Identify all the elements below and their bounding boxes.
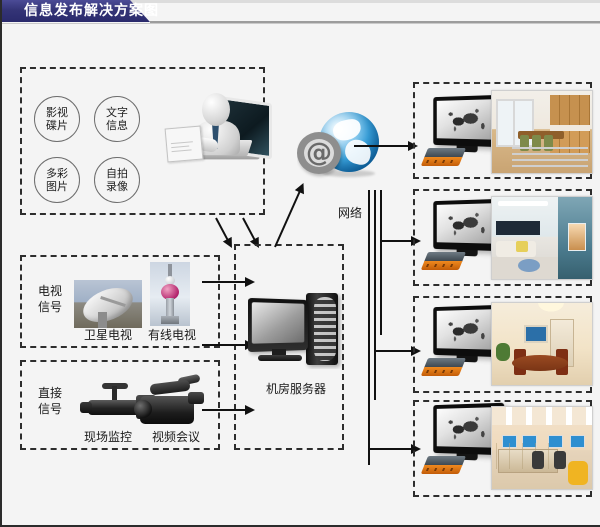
source-circle-image[interactable]: 多彩 图片 [34, 157, 80, 203]
source-circle-video-line2: 碟片 [46, 119, 68, 132]
source-circle-text-line1: 文字 [106, 106, 128, 119]
bus-line-middle [374, 190, 376, 400]
tv-signal-label-line1: 电视 [30, 283, 70, 299]
tv-signal-label-line2: 信号 [30, 299, 70, 315]
bus-line-inner [380, 190, 382, 335]
tv-tower-icon [150, 262, 190, 326]
server-computer-icon [248, 293, 344, 369]
arrow-content-to-server-a [215, 218, 229, 242]
tv-signal-label: 电视 信号 [30, 283, 70, 315]
person-laptop-icon [162, 85, 272, 195]
source-circle-video-line1: 影视 [46, 106, 68, 119]
arrow-content-bus-to-server [202, 344, 246, 346]
bus-line-outer [368, 190, 370, 465]
source-circle-selfie-line2: 录像 [106, 180, 128, 193]
satellite-dish-icon [74, 280, 142, 328]
arrow-network-to-terminal-1 [354, 145, 409, 147]
arrow-tvsignal-to-server [202, 281, 246, 283]
arrow-network-to-terminal-3 [374, 350, 412, 352]
camcorder-icon [132, 372, 210, 428]
arrow-network-to-terminal-4 [368, 448, 412, 450]
direct-signal-label-line1: 直接 [30, 385, 70, 401]
server-label: 机房服务器 [250, 382, 342, 397]
modern-living-room-photo [491, 196, 593, 280]
source-circle-text-line2: 信息 [106, 119, 128, 132]
direct-signal-label: 直接 信号 [30, 385, 70, 417]
video-conference-caption: 视频会议 [136, 430, 216, 445]
media-player-box-icon-2 [420, 252, 466, 272]
banner-underline [2, 23, 600, 24]
media-player-box-icon-4 [420, 456, 466, 476]
kitchen-dining-room-photo [491, 90, 593, 174]
office-workstations-photo [491, 406, 593, 490]
media-player-box-icon-3 [420, 358, 466, 378]
diagram-canvas: 信息发布解决方案图 影视 碟片 文字 信息 多彩 图片 自拍 录像 电视 信号 [0, 0, 600, 527]
cable-tv-caption: 有线电视 [134, 328, 210, 343]
source-circle-video[interactable]: 影视 碟片 [34, 96, 80, 142]
classic-dining-room-photo [491, 302, 593, 386]
arrow-content-to-server-b [242, 218, 256, 242]
source-circle-image-line2: 图片 [46, 180, 68, 193]
source-circle-text[interactable]: 文字 信息 [94, 96, 140, 142]
arrow-server-to-network [274, 190, 301, 247]
source-circle-selfie[interactable]: 自拍 录像 [94, 157, 140, 203]
arrow-network-to-terminal-2 [380, 240, 412, 242]
network-label: 网络 [330, 206, 370, 221]
direct-signal-label-line2: 信号 [30, 401, 70, 417]
arrow-direct-to-server [202, 409, 246, 411]
media-player-box-icon-1 [420, 148, 466, 168]
source-circle-image-line1: 多彩 [46, 167, 68, 180]
page-title: 信息发布解决方案图 [24, 2, 159, 21]
source-circle-selfie-line1: 自拍 [106, 167, 128, 180]
